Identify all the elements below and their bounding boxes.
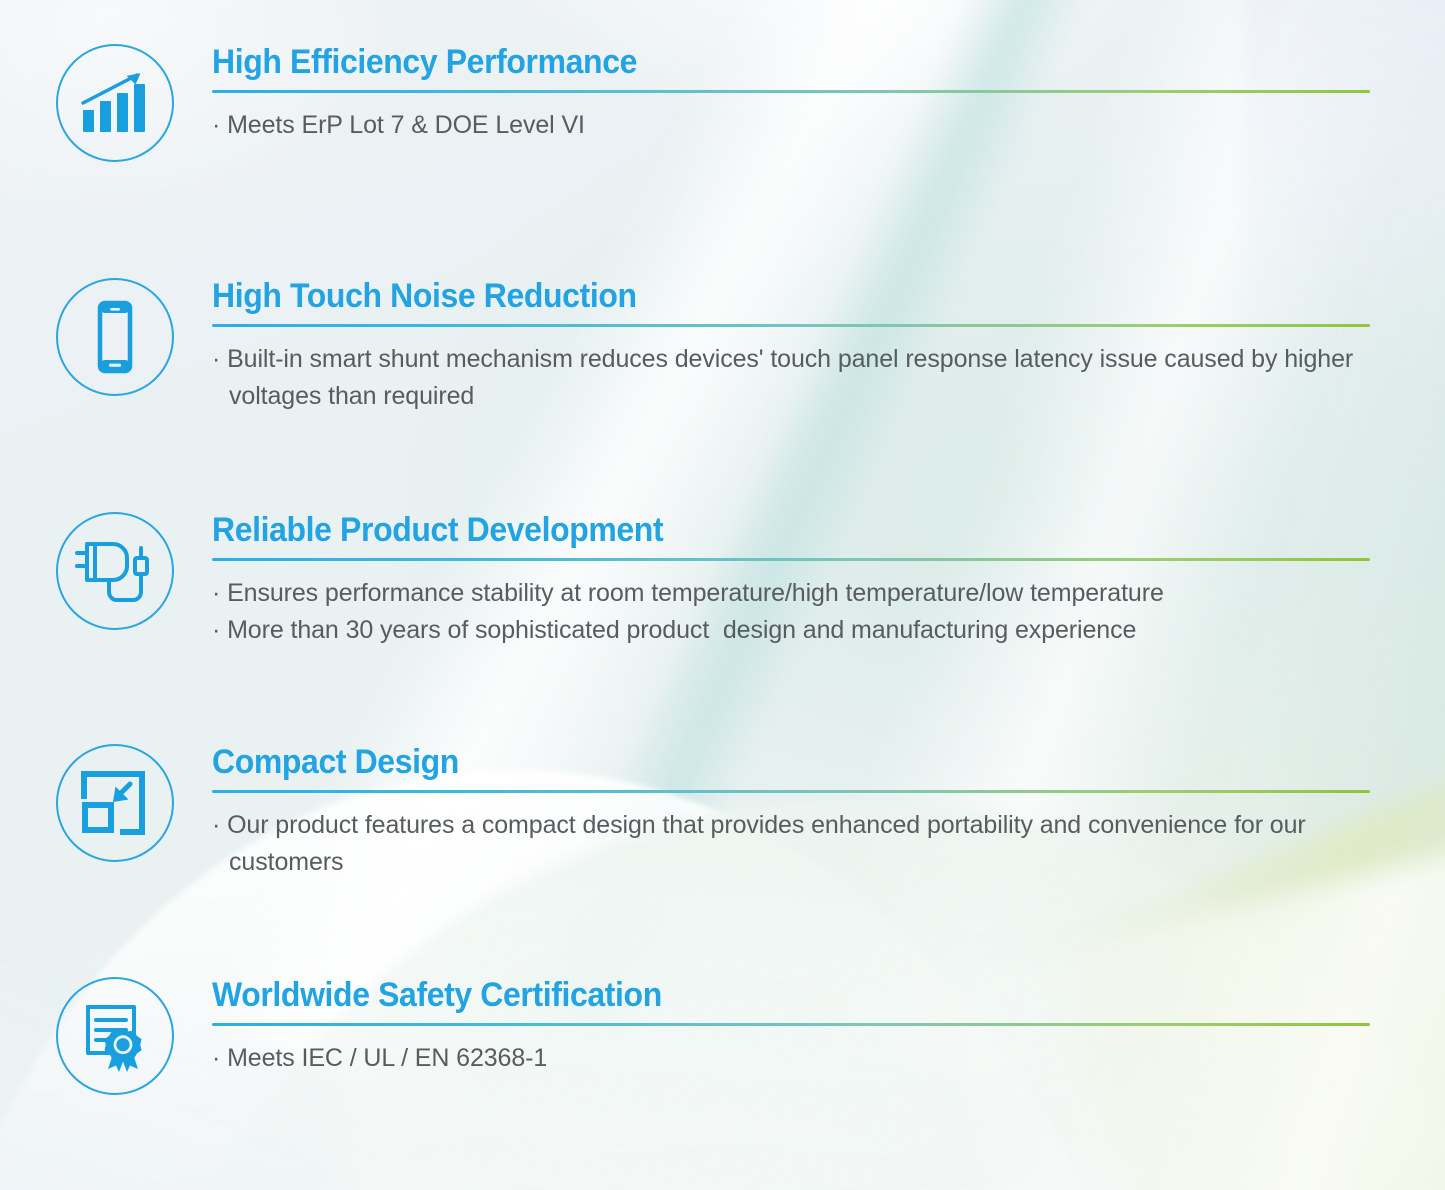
- feature-icon-wrap: [0, 977, 178, 1095]
- smartphone-icon: [56, 278, 174, 396]
- certificate-award-icon: [56, 977, 174, 1095]
- feature-title: High Efficiency Performance: [212, 44, 1300, 81]
- power-adapter-icon: [56, 512, 174, 630]
- feature-item-high-efficiency-performance: High Efficiency Performance · Meets ErP …: [0, 44, 1445, 162]
- feature-bullet-line: · More than 30 years of sophisticated pr…: [212, 612, 1369, 649]
- feature-item-worldwide-safety-certification: Worldwide Safety Certification · Meets I…: [0, 977, 1445, 1095]
- feature-icon-wrap: [0, 44, 178, 162]
- feature-bullet-line: · Ensures performance stability at room …: [212, 575, 1369, 612]
- feature-bullet-line: · Meets IEC / UL / EN 62368-1: [212, 1040, 1369, 1077]
- feature-lines: · Our product features a compact design …: [212, 807, 1369, 881]
- resize-shrink-icon: [56, 744, 174, 862]
- feature-icon-wrap: [0, 512, 178, 630]
- feature-bullet-line: · Built-in smart shunt mechanism reduces…: [212, 341, 1369, 415]
- feature-divider: [212, 790, 1370, 793]
- feature-lines: · Built-in smart shunt mechanism reduces…: [212, 341, 1369, 415]
- feature-highlights-page: High Efficiency Performance · Meets ErP …: [0, 0, 1445, 1190]
- feature-bullet-line: · Meets ErP Lot 7 & DOE Level VI: [212, 107, 1369, 144]
- feature-icon-wrap: [0, 744, 178, 862]
- feature-item-high-touch-noise-reduction: High Touch Noise Reduction · Built-in sm…: [0, 278, 1445, 415]
- feature-item-reliable-product-development: Reliable Product Development · Ensures p…: [0, 512, 1445, 649]
- feature-lines: · Ensures performance stability at room …: [212, 575, 1369, 649]
- feature-title: Reliable Product Development: [212, 512, 1300, 549]
- feature-body: Reliable Product Development · Ensures p…: [178, 512, 1445, 649]
- feature-body: Worldwide Safety Certification · Meets I…: [178, 977, 1445, 1077]
- feature-divider: [212, 558, 1370, 561]
- feature-lines: · Meets ErP Lot 7 & DOE Level VI: [212, 107, 1369, 144]
- feature-title: High Touch Noise Reduction: [212, 278, 1300, 315]
- feature-body: High Touch Noise Reduction · Built-in sm…: [178, 278, 1445, 415]
- feature-lines: · Meets IEC / UL / EN 62368-1: [212, 1040, 1369, 1077]
- bar-chart-growth-icon: [56, 44, 174, 162]
- feature-icon-wrap: [0, 278, 178, 396]
- feature-body: Compact Design · Our product features a …: [178, 744, 1445, 881]
- feature-body: High Efficiency Performance · Meets ErP …: [178, 44, 1445, 144]
- feature-divider: [212, 324, 1370, 327]
- feature-item-compact-design: Compact Design · Our product features a …: [0, 744, 1445, 881]
- feature-title: Worldwide Safety Certification: [212, 977, 1300, 1014]
- feature-divider: [212, 90, 1370, 93]
- feature-title: Compact Design: [212, 744, 1300, 781]
- feature-bullet-line: · Our product features a compact design …: [212, 807, 1369, 881]
- feature-divider: [212, 1023, 1370, 1026]
